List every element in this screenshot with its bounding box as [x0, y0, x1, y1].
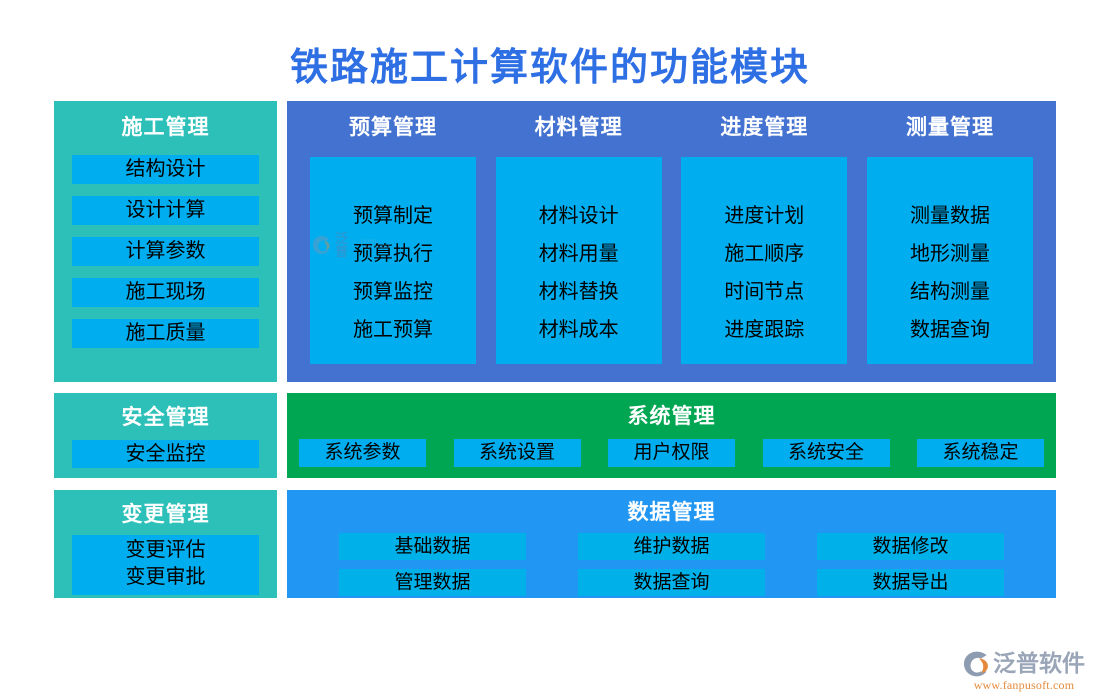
chip-change-items[interactable]: 变更评估 变更审批 [72, 535, 259, 595]
survey-management-header: 测量管理 [867, 111, 1033, 141]
construction-management-header: 施工管理 [54, 111, 277, 141]
system-management-panel: 系统管理 系统参数 系统设置 用户权限 系统安全 系统稳定 [287, 393, 1056, 478]
material-management-column: 材料管理 材料设计 材料用量 材料替换 材料成本 [496, 101, 662, 382]
data-management-items: 基础数据 维护数据 数据修改 管理数据 数据查询 数据导出 [287, 526, 1056, 596]
progress-management-header: 进度管理 [681, 111, 847, 141]
survey-management-items: 测量数据 地形测量 结构测量 数据查询 [867, 157, 1033, 364]
item-budget-execution[interactable]: 预算执行 [353, 235, 433, 273]
item-construction-budget[interactable]: 施工预算 [353, 311, 433, 349]
core-modules-columns: 预算管理 预算制定 预算执行 预算监控 施工预算 材料管理 材料设计 材料用量 … [287, 101, 1056, 382]
budget-management-items: 预算制定 预算执行 预算监控 施工预算 [310, 157, 476, 364]
item-time-nodes[interactable]: 时间节点 [724, 273, 804, 311]
chip-construction-site[interactable]: 施工现场 [72, 278, 259, 307]
chip-user-permissions[interactable]: 用户权限 [608, 439, 735, 467]
brand-name: 泛普软件 [993, 651, 1085, 677]
chip-management-data[interactable]: 管理数据 [339, 569, 526, 596]
chip-system-security[interactable]: 系统安全 [763, 439, 890, 467]
item-progress-plan[interactable]: 进度计划 [724, 197, 804, 235]
budget-management-column: 预算管理 预算制定 预算执行 预算监控 施工预算 [310, 101, 476, 382]
data-management-panel: 数据管理 基础数据 维护数据 数据修改 管理数据 数据查询 数据导出 [287, 490, 1056, 598]
chip-system-stability[interactable]: 系统稳定 [917, 439, 1044, 467]
brand-url: www.fanpusoft.com [963, 678, 1085, 693]
change-management-items: 变更评估 变更审批 [54, 535, 277, 595]
chip-construction-quality[interactable]: 施工质量 [72, 319, 259, 348]
fanpu-logo-icon [963, 651, 991, 677]
chip-calculation-parameters[interactable]: 计算参数 [72, 237, 259, 266]
chip-safety-monitoring[interactable]: 安全监控 [72, 440, 259, 468]
core-modules-panel: 预算管理 预算制定 预算执行 预算监控 施工预算 材料管理 材料设计 材料用量 … [287, 101, 1056, 382]
safety-management-items: 安全监控 [54, 440, 277, 468]
item-budget-formulation[interactable]: 预算制定 [353, 197, 433, 235]
chip-change-evaluation[interactable]: 变更评估 [72, 537, 259, 564]
progress-management-items: 进度计划 施工顺序 时间节点 进度跟踪 [681, 157, 847, 364]
data-management-header: 数据管理 [287, 496, 1056, 526]
chip-data-export[interactable]: 数据导出 [817, 569, 1004, 596]
diagram-canvas: 铁路施工计算软件的功能模块 施工管理 结构设计 设计计算 计算参数 施工现场 施… [0, 0, 1100, 700]
brand-top-row: 泛普软件 [963, 651, 1085, 677]
chip-design-calculation[interactable]: 设计计算 [72, 196, 259, 225]
chip-maintenance-data[interactable]: 维护数据 [578, 533, 765, 560]
page-title: 铁路施工计算软件的功能模块 [0, 36, 1100, 91]
chip-system-settings[interactable]: 系统设置 [454, 439, 581, 467]
progress-management-column: 进度管理 进度计划 施工顺序 时间节点 进度跟踪 [681, 101, 847, 382]
chip-change-approval[interactable]: 变更审批 [72, 564, 259, 591]
change-management-panel: 变更管理 变更评估 变更审批 [54, 490, 277, 598]
construction-management-items: 结构设计 设计计算 计算参数 施工现场 施工质量 [54, 155, 277, 348]
item-construction-sequence[interactable]: 施工顺序 [724, 235, 804, 273]
chip-data-modification[interactable]: 数据修改 [817, 533, 1004, 560]
change-management-header: 变更管理 [54, 498, 277, 528]
item-survey-data[interactable]: 测量数据 [910, 197, 990, 235]
chip-data-query[interactable]: 数据查询 [578, 569, 765, 596]
item-material-substitution[interactable]: 材料替换 [539, 273, 619, 311]
item-terrain-survey[interactable]: 地形测量 [910, 235, 990, 273]
chip-structure-design[interactable]: 结构设计 [72, 155, 259, 184]
fanpu-brand-logo: 泛普软件 www.fanpusoft.com [963, 651, 1085, 693]
chip-system-parameters[interactable]: 系统参数 [299, 439, 426, 467]
item-material-cost[interactable]: 材料成本 [539, 311, 619, 349]
item-budget-monitoring[interactable]: 预算监控 [353, 273, 433, 311]
survey-management-column: 测量管理 测量数据 地形测量 结构测量 数据查询 [867, 101, 1033, 382]
budget-management-header: 预算管理 [310, 111, 476, 141]
system-management-items: 系统参数 系统设置 用户权限 系统安全 系统稳定 [287, 430, 1056, 467]
material-management-header: 材料管理 [496, 111, 662, 141]
safety-management-panel: 安全管理 安全监控 [54, 393, 277, 478]
chip-basic-data[interactable]: 基础数据 [339, 533, 526, 560]
system-management-header: 系统管理 [287, 400, 1056, 430]
item-progress-tracking[interactable]: 进度跟踪 [724, 311, 804, 349]
item-data-query[interactable]: 数据查询 [910, 311, 990, 349]
item-material-quantity[interactable]: 材料用量 [539, 235, 619, 273]
construction-management-panel: 施工管理 结构设计 设计计算 计算参数 施工现场 施工质量 [54, 101, 277, 382]
item-material-design[interactable]: 材料设计 [539, 197, 619, 235]
material-management-items: 材料设计 材料用量 材料替换 材料成本 [496, 157, 662, 364]
item-structure-survey[interactable]: 结构测量 [910, 273, 990, 311]
safety-management-header: 安全管理 [54, 401, 277, 431]
